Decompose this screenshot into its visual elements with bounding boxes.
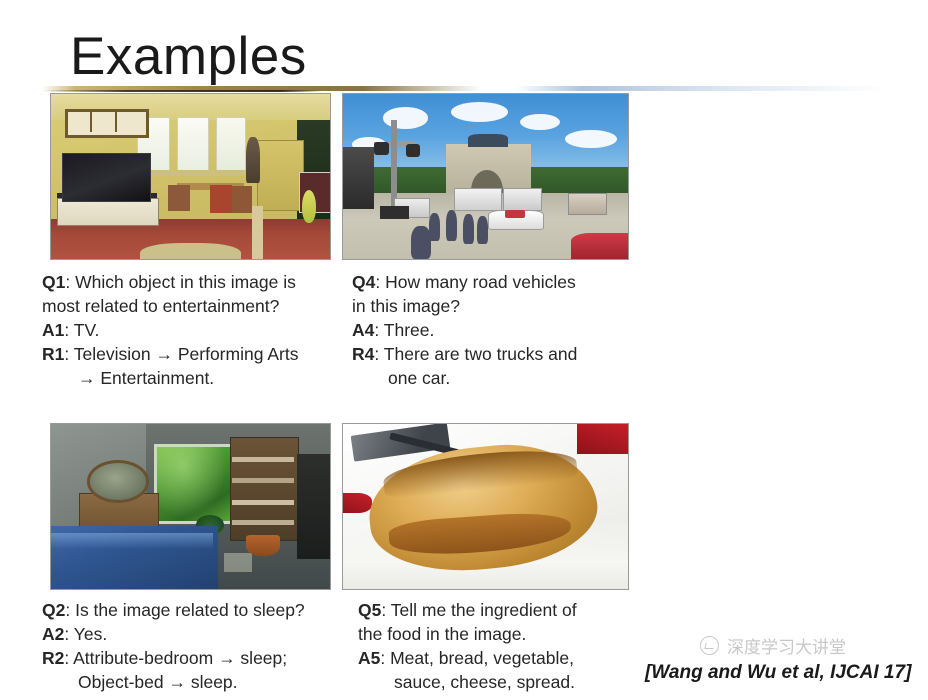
chair-3	[232, 186, 252, 212]
frame-divider-2	[115, 109, 117, 132]
watermark-text: 深度学习大讲堂	[727, 633, 846, 658]
red-surface-top-right	[577, 424, 629, 454]
qa2-answer-line: A2: Yes.	[42, 622, 357, 646]
truck-1	[454, 188, 502, 211]
chair-1	[168, 185, 190, 211]
qa1-answer-line: A1: TV.	[42, 318, 352, 342]
window-foliage-glow	[154, 444, 227, 518]
bedroom-photo[interactable]	[50, 423, 331, 590]
qa4-question-line-2: in this image?	[352, 294, 637, 318]
qa5-question-line-2: the food in the image.	[358, 622, 643, 646]
qa5-answer-line-1: A5: Meat, bread, vegetable,	[358, 646, 643, 670]
qa5-answer-text-1: : Meat, bread, vegetable,	[380, 648, 574, 668]
truck-3	[568, 193, 607, 215]
qa-block-4: Q4: How many road vehicles in this image…	[352, 270, 637, 390]
circle-check-icon	[700, 636, 719, 655]
frame-divider-1	[90, 109, 92, 132]
qa4-answer-line: A4: Three.	[352, 318, 637, 342]
qa4-reason-line-2: one car.	[352, 366, 637, 390]
light-patch	[224, 553, 252, 573]
window-right-icon	[216, 117, 246, 172]
qa-block-1: Q1: Which object in this image is most r…	[42, 270, 352, 390]
road-vehicles-photo[interactable]	[342, 93, 629, 260]
qa4-reason-line-1: R4: There are two trucks and	[352, 342, 637, 366]
qa1-question-text-1: : Which object in this image is	[65, 272, 296, 292]
qa-block-5: Q5: Tell me the ingredient of the food i…	[358, 598, 643, 694]
qa2-question-line: Q2: Is the image related to sleep?	[42, 598, 357, 622]
qa2-reason-label: R2	[42, 648, 64, 668]
round-mirror-icon	[87, 460, 149, 502]
chair-2	[210, 185, 232, 213]
qa5-question-label: Q5	[358, 600, 381, 620]
qa4-question-label: Q4	[352, 272, 375, 292]
qa2-question-text: : Is the image related to sleep?	[65, 600, 304, 620]
qa5-answer-line-2: sauce, cheese, spread.	[358, 670, 643, 694]
qa1-question-line-2: most related to entertainment?	[42, 294, 352, 318]
qa4-question-text-1: : How many road vehicles	[375, 272, 575, 292]
car-red-marking	[505, 210, 525, 218]
red-car-foreground	[571, 233, 629, 259]
pedestrian-3	[463, 214, 474, 244]
qa1-answer-label: A1	[42, 320, 64, 340]
qa2-answer-text: : Yes.	[64, 624, 107, 644]
picture-frame-icon	[65, 109, 149, 138]
title-underline-dark	[42, 90, 322, 92]
crossing-light-2-icon	[406, 144, 420, 157]
truck-2	[503, 188, 542, 211]
cloud-3	[520, 114, 560, 131]
book-row-1	[232, 457, 293, 462]
foreground-figure	[252, 206, 263, 259]
pedestrian-4	[477, 216, 488, 244]
qa5-question-text-1: : Tell me the ingredient of	[381, 600, 576, 620]
book-row-2	[232, 478, 293, 483]
qa4-reason-text-1: : There are two trucks and	[374, 344, 577, 364]
hanging-coat	[297, 454, 330, 560]
qa2-reason-text-1: : Attribute-bedroom → sleep;	[64, 648, 287, 668]
signal-pole	[391, 120, 397, 206]
qa4-answer-label: A4	[352, 320, 374, 340]
qa-block-2: Q2: Is the image related to sleep? A2: Y…	[42, 598, 357, 694]
qa2-question-label: Q2	[42, 600, 65, 620]
person-figure	[246, 137, 260, 183]
bookshelf-icon	[230, 437, 299, 541]
qa1-reason-text-1: : Television → Performing Arts	[64, 344, 298, 364]
pedestrian-2	[446, 210, 457, 241]
left-structure	[343, 147, 374, 210]
qa5-answer-label: A5	[358, 648, 380, 668]
citation-reference: [Wang and Wu et al, IJCAI 17]	[645, 662, 911, 684]
book-row-4	[232, 520, 293, 525]
dark-vehicle	[380, 206, 409, 219]
qa1-reason-line-1: R1: Television → Performing Arts	[42, 342, 352, 366]
cloud-1	[383, 107, 429, 128]
page-title: Examples	[70, 30, 307, 83]
qa1-answer-text: : TV.	[64, 320, 99, 340]
living-room-photo[interactable]	[50, 93, 331, 260]
qa5-question-line-1: Q5: Tell me the ingredient of	[358, 598, 643, 622]
qa1-reason-label: R1	[42, 344, 64, 364]
lamp-icon	[302, 190, 316, 223]
qa4-answer-text: : Three.	[374, 320, 434, 340]
red-surface-left	[342, 493, 372, 513]
basket-icon	[246, 535, 279, 556]
qa1-question-line-1: Q1: Which object in this image is	[42, 270, 352, 294]
qa2-answer-label: A2	[42, 624, 64, 644]
television-icon	[62, 153, 150, 201]
book-row-3	[232, 500, 293, 505]
watermark: 深度学习大讲堂	[700, 633, 846, 658]
tv-stand	[57, 198, 159, 226]
sandwich-photo[interactable]	[342, 423, 629, 590]
qa4-reason-label: R4	[352, 344, 374, 364]
pedestrian-5	[411, 226, 431, 259]
qa1-reason-line-2: → Entertainment.	[42, 366, 352, 390]
cloud-2	[451, 102, 508, 122]
quadriga-statue	[468, 134, 508, 147]
qa2-reason-line-1: R2: Attribute-bedroom → sleep;	[42, 646, 357, 670]
cabinet-region	[257, 140, 304, 211]
window-sill	[135, 170, 247, 177]
rug-region	[140, 243, 240, 260]
qa4-question-line-1: Q4: How many road vehicles	[352, 270, 637, 294]
crossing-light-1-icon	[374, 142, 388, 155]
qa1-question-label: Q1	[42, 272, 65, 292]
qa2-reason-line-2: Object-bed → sleep.	[42, 670, 357, 694]
bed-highlight	[51, 533, 213, 550]
window-center-icon	[177, 117, 210, 172]
